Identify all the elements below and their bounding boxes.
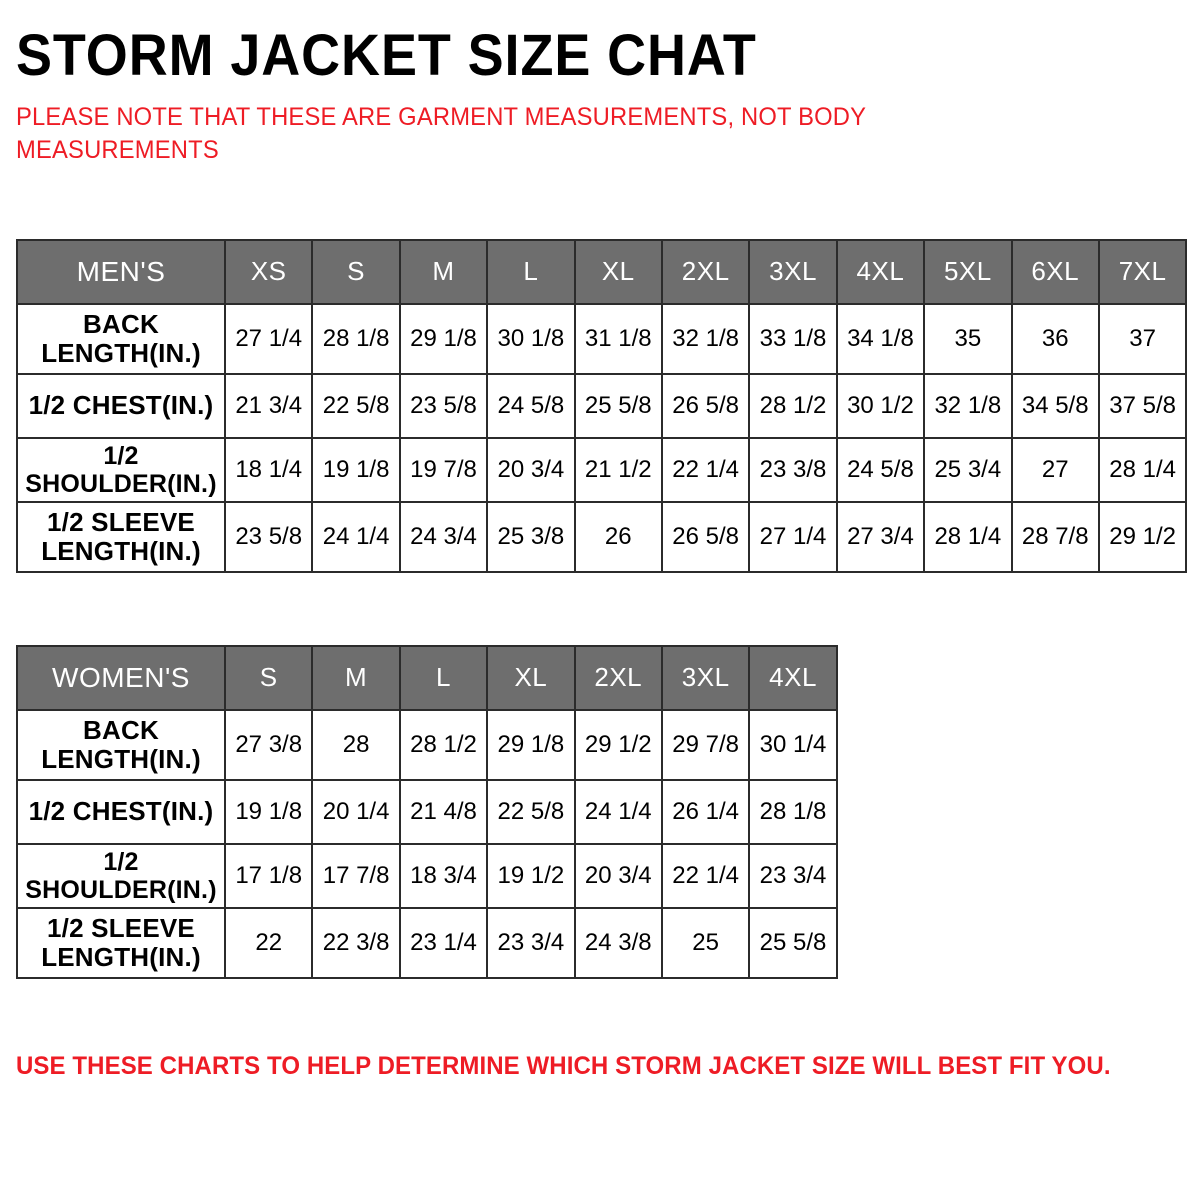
- womens-corner-label: WOMEN'S: [17, 646, 225, 710]
- mens-col-5xl: 5XL: [924, 240, 1011, 304]
- cell: 17 7/8: [312, 844, 399, 908]
- cell: 21 1/2: [575, 438, 662, 502]
- cell: 22 1/4: [662, 844, 749, 908]
- cell: 24 3/8: [575, 908, 662, 978]
- cell: 26 1/4: [662, 780, 749, 844]
- cell: 29 1/8: [400, 304, 487, 374]
- cell: 21 4/8: [400, 780, 487, 844]
- cell: 22: [225, 908, 312, 978]
- cell: 30 1/4: [749, 710, 836, 780]
- cell: 28 1/8: [749, 780, 836, 844]
- cell: 17 1/8: [225, 844, 312, 908]
- cell: 29 1/2: [575, 710, 662, 780]
- cell: 27: [1012, 438, 1099, 502]
- cell: 25 5/8: [749, 908, 836, 978]
- cell: 24 5/8: [487, 374, 574, 438]
- cell: 20 3/4: [487, 438, 574, 502]
- womens-row-label-half-chest: 1/2 CHEST(IN.): [17, 780, 225, 844]
- mens-row-label-half-shoulder: 1/2 SHOULDER(IN.): [17, 438, 225, 502]
- cell: 22 3/8: [312, 908, 399, 978]
- womens-col-xl: XL: [487, 646, 574, 710]
- mens-row-label-half-chest: 1/2 CHEST(IN.): [17, 374, 225, 438]
- cell: 28: [312, 710, 399, 780]
- fit-guidance-note: USE THESE CHARTS TO HELP DETERMINE WHICH…: [16, 1052, 1111, 1081]
- cell: 23 5/8: [225, 502, 312, 572]
- cell: 24 1/4: [575, 780, 662, 844]
- cell: 19 1/8: [312, 438, 399, 502]
- mens-col-s: S: [312, 240, 399, 304]
- cell: 35: [924, 304, 1011, 374]
- cell: 31 1/8: [575, 304, 662, 374]
- cell: 19 1/2: [487, 844, 574, 908]
- cell: 36: [1012, 304, 1099, 374]
- size-chart-page: STORM JACKET SIZE CHAT PLEASE NOTE THAT …: [0, 0, 1200, 1200]
- cell: 28 1/8: [312, 304, 399, 374]
- cell: 28 1/4: [924, 502, 1011, 572]
- cell: 22 5/8: [487, 780, 574, 844]
- cell: 27 3/8: [225, 710, 312, 780]
- mens-row-label-half-sleeve-length: 1/2 SLEEVE LENGTH(IN.): [17, 502, 225, 572]
- label-line-1: BACK: [83, 715, 159, 745]
- womens-col-m: M: [312, 646, 399, 710]
- womens-col-2xl: 2XL: [575, 646, 662, 710]
- label-line-2: LENGTH(IN.): [41, 744, 201, 774]
- table-row: BACK LENGTH(IN.) 27 3/8 28 28 1/2 29 1/8…: [17, 710, 837, 780]
- table-row: 1/2 CHEST(IN.) 21 3/4 22 5/8 23 5/8 24 5…: [17, 374, 1186, 438]
- mens-size-table: MEN'S XS S M L XL 2XL 3XL 4XL 5XL 6XL 7X…: [16, 239, 1187, 573]
- mens-col-4xl: 4XL: [837, 240, 924, 304]
- label-line-2: LENGTH(IN.): [41, 338, 201, 368]
- label-line-1: 1/2 SLEEVE: [47, 913, 195, 943]
- cell: 25 3/4: [924, 438, 1011, 502]
- cell: 30 1/2: [837, 374, 924, 438]
- cell: 37: [1099, 304, 1186, 374]
- cell: 24 5/8: [837, 438, 924, 502]
- cell: 28 1/2: [749, 374, 836, 438]
- cell: 27 3/4: [837, 502, 924, 572]
- cell: 27 1/4: [749, 502, 836, 572]
- cell: 26: [575, 502, 662, 572]
- cell: 27 1/4: [225, 304, 312, 374]
- womens-table-header: WOMEN'S S M L XL 2XL 3XL 4XL: [17, 646, 837, 710]
- mens-col-7xl: 7XL: [1099, 240, 1186, 304]
- cell: 24 1/4: [312, 502, 399, 572]
- cell: 30 1/8: [487, 304, 574, 374]
- womens-col-3xl: 3XL: [662, 646, 749, 710]
- cell: 18 3/4: [400, 844, 487, 908]
- garment-measurement-note: PLEASE NOTE THAT THESE ARE GARMENT MEASU…: [16, 101, 966, 167]
- cell: 22 1/4: [662, 438, 749, 502]
- mens-table-header: MEN'S XS S M L XL 2XL 3XL 4XL 5XL 6XL 7X…: [17, 240, 1186, 304]
- cell: 25: [662, 908, 749, 978]
- cell: 22 5/8: [312, 374, 399, 438]
- mens-table-body: BACK LENGTH(IN.) 27 1/4 28 1/8 29 1/8 30…: [17, 304, 1186, 572]
- cell: 28 7/8: [1012, 502, 1099, 572]
- cell: 19 1/8: [225, 780, 312, 844]
- mens-col-xl: XL: [575, 240, 662, 304]
- label-line-2: LENGTH(IN.): [41, 942, 201, 972]
- label-line-2: LENGTH(IN.): [41, 536, 201, 566]
- table-row: 1/2 SHOULDER(IN.) 17 1/8 17 7/8 18 3/4 1…: [17, 844, 837, 908]
- cell: 19 7/8: [400, 438, 487, 502]
- cell: 33 1/8: [749, 304, 836, 374]
- mens-row-label-back-length: BACK LENGTH(IN.): [17, 304, 225, 374]
- cell: 34 1/8: [837, 304, 924, 374]
- mens-col-2xl: 2XL: [662, 240, 749, 304]
- womens-size-table: WOMEN'S S M L XL 2XL 3XL 4XL BACK LENGTH…: [16, 645, 838, 979]
- womens-row-label-back-length: BACK LENGTH(IN.): [17, 710, 225, 780]
- mens-col-l: L: [487, 240, 574, 304]
- mens-header-row: MEN'S XS S M L XL 2XL 3XL 4XL 5XL 6XL 7X…: [17, 240, 1186, 304]
- womens-row-label-half-sleeve-length: 1/2 SLEEVE LENGTH(IN.): [17, 908, 225, 978]
- cell: 29 1/8: [487, 710, 574, 780]
- cell: 23 5/8: [400, 374, 487, 438]
- cell: 32 1/8: [924, 374, 1011, 438]
- cell: 23 1/4: [400, 908, 487, 978]
- cell: 28 1/4: [1099, 438, 1186, 502]
- label-line-1: 1/2 SLEEVE: [47, 507, 195, 537]
- cell: 23 3/4: [749, 844, 836, 908]
- page-title: STORM JACKET SIZE CHAT: [16, 0, 1102, 87]
- cell: 28 1/2: [400, 710, 487, 780]
- mens-col-6xl: 6XL: [1012, 240, 1099, 304]
- mens-col-3xl: 3XL: [749, 240, 836, 304]
- cell: 23 3/4: [487, 908, 574, 978]
- womens-col-l: L: [400, 646, 487, 710]
- mens-corner-label: MEN'S: [17, 240, 225, 304]
- womens-col-4xl: 4XL: [749, 646, 836, 710]
- cell: 25 5/8: [575, 374, 662, 438]
- mens-col-m: M: [400, 240, 487, 304]
- cell: 34 5/8: [1012, 374, 1099, 438]
- womens-table-body: BACK LENGTH(IN.) 27 3/8 28 28 1/2 29 1/8…: [17, 710, 837, 978]
- table-row: 1/2 SLEEVE LENGTH(IN.) 22 22 3/8 23 1/4 …: [17, 908, 837, 978]
- cell: 32 1/8: [662, 304, 749, 374]
- cell: 37 5/8: [1099, 374, 1186, 438]
- cell: 24 3/4: [400, 502, 487, 572]
- womens-header-row: WOMEN'S S M L XL 2XL 3XL 4XL: [17, 646, 837, 710]
- cell: 26 5/8: [662, 374, 749, 438]
- womens-row-label-half-shoulder: 1/2 SHOULDER(IN.): [17, 844, 225, 908]
- table-row: BACK LENGTH(IN.) 27 1/4 28 1/8 29 1/8 30…: [17, 304, 1186, 374]
- cell: 21 3/4: [225, 374, 312, 438]
- cell: 25 3/8: [487, 502, 574, 572]
- cell: 29 7/8: [662, 710, 749, 780]
- cell: 20 3/4: [575, 844, 662, 908]
- womens-col-s: S: [225, 646, 312, 710]
- cell: 26 5/8: [662, 502, 749, 572]
- table-row: 1/2 SHOULDER(IN.) 18 1/4 19 1/8 19 7/8 2…: [17, 438, 1186, 502]
- table-row: 1/2 SLEEVE LENGTH(IN.) 23 5/8 24 1/4 24 …: [17, 502, 1186, 572]
- cell: 23 3/8: [749, 438, 836, 502]
- mens-col-xs: XS: [225, 240, 312, 304]
- cell: 29 1/2: [1099, 502, 1186, 572]
- table-row: 1/2 CHEST(IN.) 19 1/8 20 1/4 21 4/8 22 5…: [17, 780, 837, 844]
- cell: 18 1/4: [225, 438, 312, 502]
- label-line-1: BACK: [83, 309, 159, 339]
- cell: 20 1/4: [312, 780, 399, 844]
